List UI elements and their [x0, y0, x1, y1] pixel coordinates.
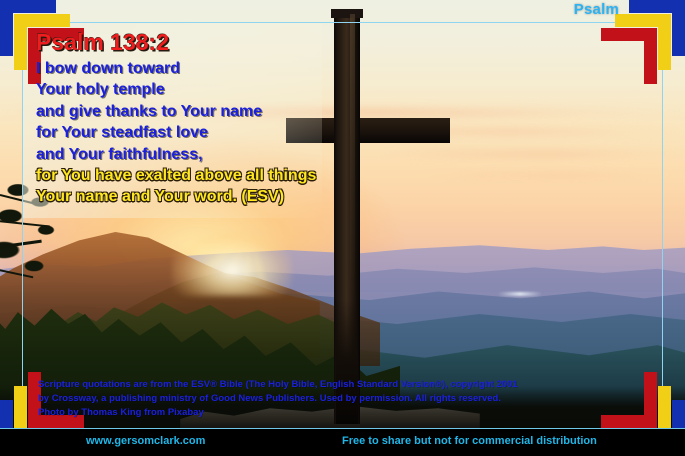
copyright-attribution: Scripture quotations are from the ESV® B… — [38, 378, 638, 419]
verse-block: Psalm 138:2 I bow down toward Your holy … — [36, 30, 386, 208]
website-link[interactable]: www.gersomclark.com — [86, 435, 205, 447]
footer-divider — [0, 428, 685, 429]
copyright-line: Scripture quotations are from the ESV® B… — [38, 378, 638, 392]
sun-icon — [172, 232, 292, 296]
valley-glint — [498, 292, 542, 296]
verse-line: and Your faithfulness, — [36, 144, 386, 165]
cloud-band — [420, 172, 685, 178]
category-label: Psalm — [574, 1, 619, 18]
verse-line: and give thanks to Your name — [36, 101, 386, 122]
corner-bracket-red — [601, 28, 657, 84]
scripture-slide: Psalm Psalm 138:2 I bow down toward Your… — [0, 0, 685, 456]
footer-bar: www.gersomclark.com Free to share but no… — [0, 428, 685, 456]
cloud-band — [380, 150, 685, 158]
photo-credit-line: Photo by Thomas King from Pixabay — [38, 406, 638, 420]
usage-notice: Free to share but not for commercial dis… — [342, 435, 597, 447]
cross-icon — [331, 9, 363, 18]
verse-reference: Psalm 138:2 — [36, 30, 386, 55]
verse-line: I bow down toward — [36, 58, 386, 79]
verse-line: Your holy temple — [36, 79, 386, 100]
verse-line: for You have exalted above all things — [36, 165, 386, 186]
verse-line: Your name and Your word. (ESV) — [36, 186, 386, 207]
copyright-line: by Crossway, a publishing ministry of Go… — [38, 392, 638, 406]
verse-line: for Your steadfast love — [36, 122, 386, 143]
